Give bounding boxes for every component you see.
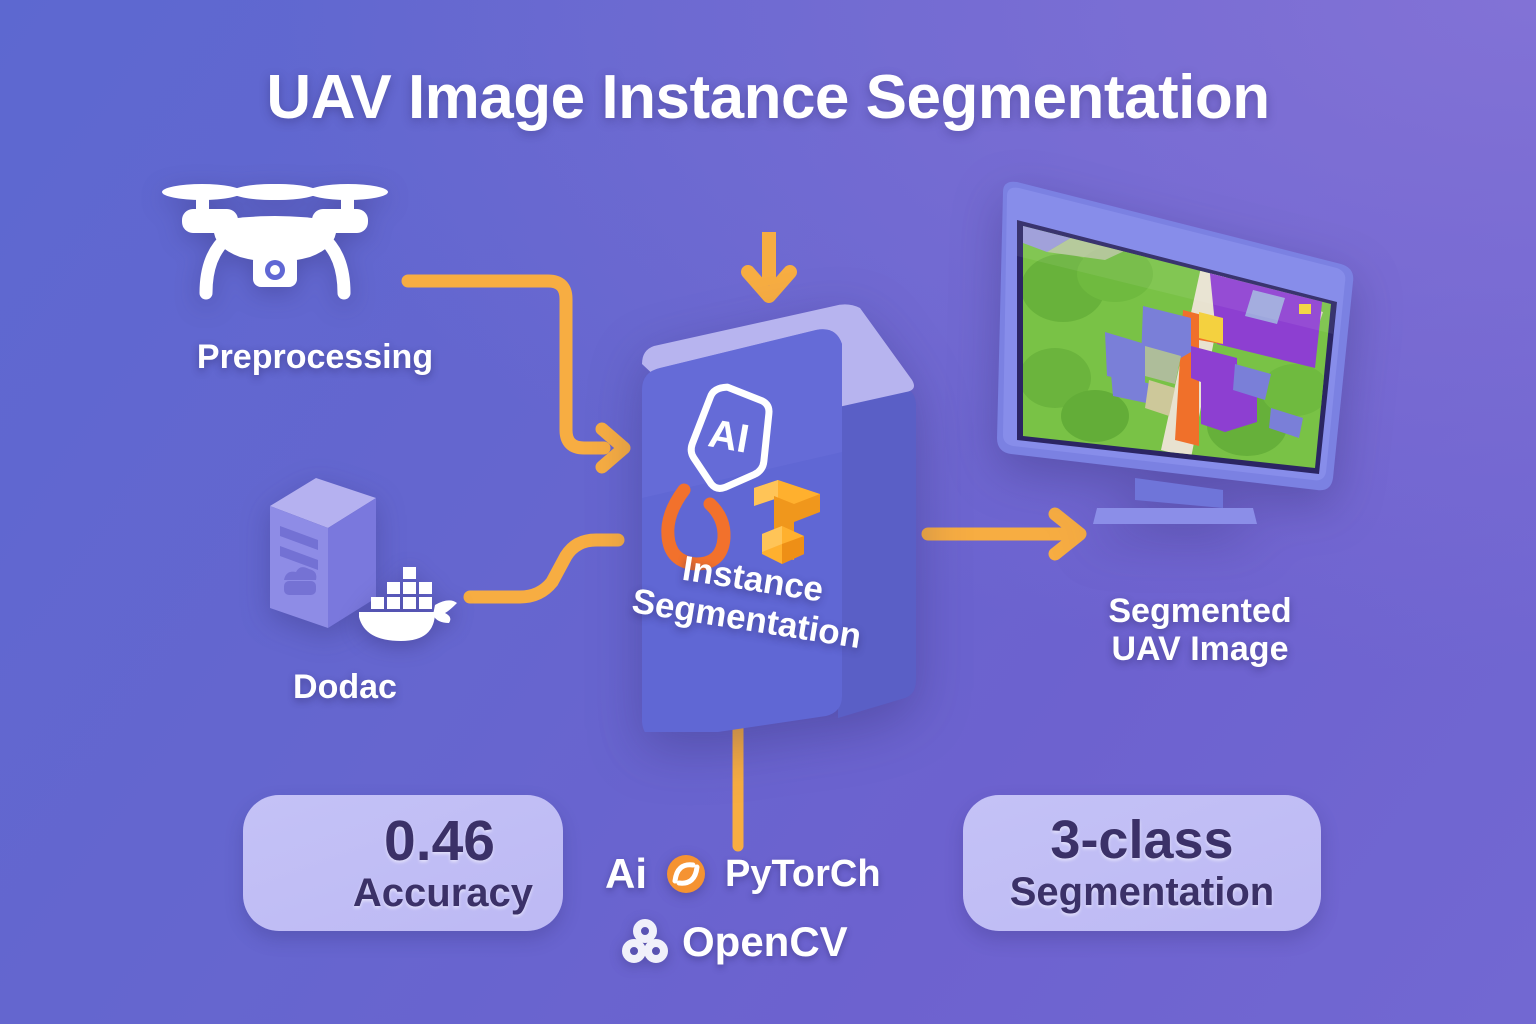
stat-value-accuracy: 0.46 [384,813,495,870]
stat-caption-accuracy: Accuracy [353,872,533,914]
label-segmented-output: Segmented UAV Image [1055,592,1345,668]
tech-stack-row-secondary: OpenCV [620,916,848,968]
opencv-trefoil-icon [620,917,670,967]
svg-text:AI: AI [705,411,752,461]
stat-card-accuracy: 0.46 Accuracy [243,795,563,931]
pytorch-circle-icon [663,851,709,897]
stat-value-classes: 3-class [1050,813,1233,867]
monitor-icon [985,178,1357,533]
page-title: UAV Image Instance Segmentation [0,62,1536,133]
tech-label-opencv: OpenCV [682,921,848,963]
tech-label-ai: Ai [605,853,647,895]
process-box: AI [620,292,930,732]
label-preprocessing: Preprocessing [150,338,480,376]
label-docker: Dodac [215,668,475,706]
stat-card-classes: 3-class Segmentation [963,795,1321,931]
output-label-line1: Segmented [1055,592,1345,630]
tech-stack-row-primary: Ai PyTorCh [605,848,881,900]
drone-icon [160,175,390,305]
docker-whale-icon [345,555,465,645]
output-label-line2: UAV Image [1055,630,1345,668]
stat-caption-classes: Segmentation [1010,871,1274,913]
tech-label-pytorch: PyTorCh [725,855,881,893]
arrow-docker-to-process [470,540,618,597]
infographic-canvas: UAV Image Instance Segmentation [0,0,1536,1024]
arrow-input-down [748,232,790,296]
